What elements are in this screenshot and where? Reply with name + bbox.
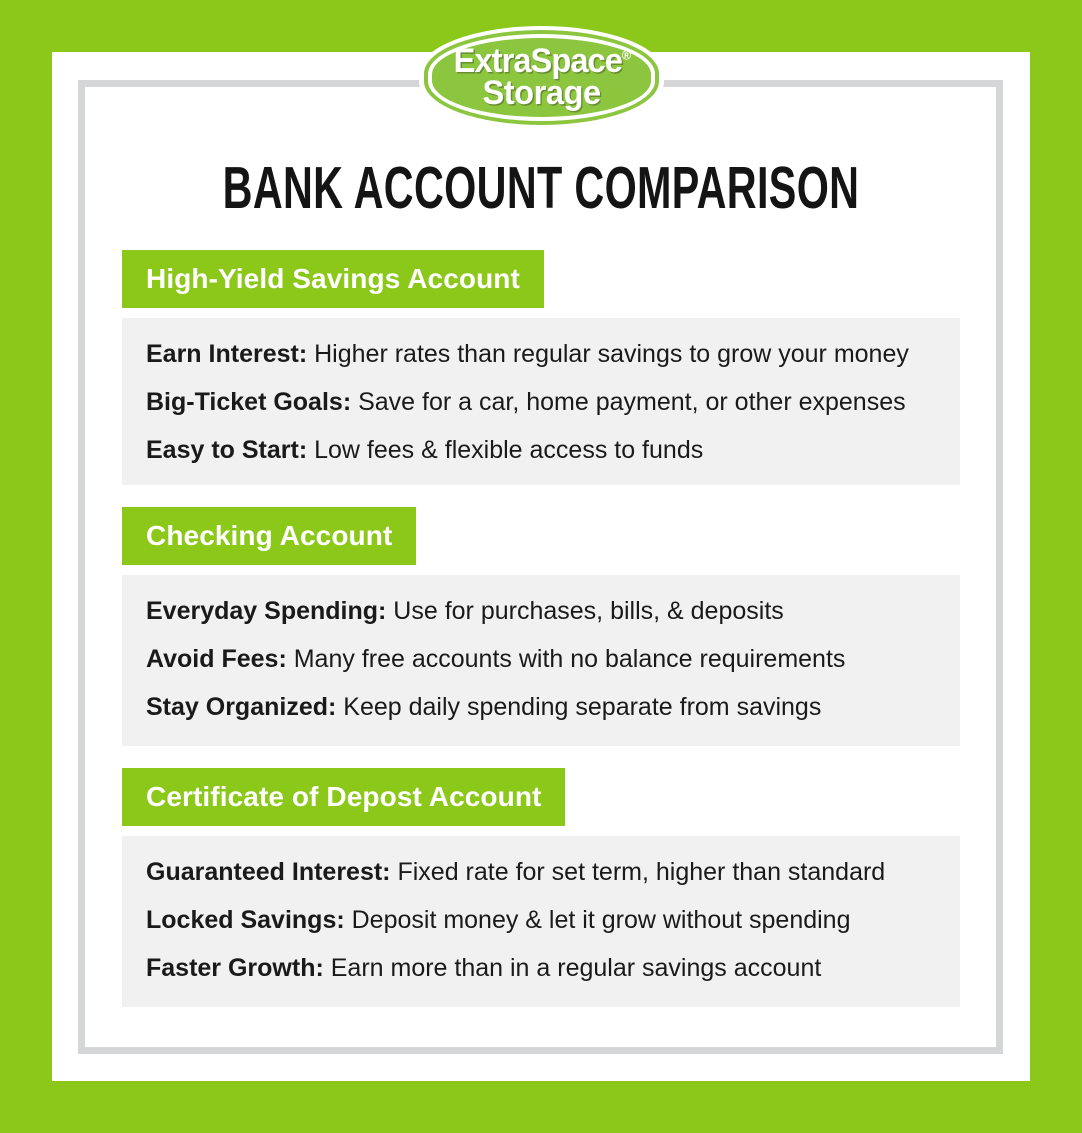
section-body-checking-account: Everyday Spending: Use for purchases, bi… [122, 575, 960, 746]
list-item-label: Everyday Spending: [146, 597, 386, 625]
sections-container: High-Yield Savings Account Earn Interest… [122, 250, 962, 1007]
section-header-high-yield-savings: High-Yield Savings Account [122, 250, 544, 308]
list-item-text: Keep daily spending separate from saving… [336, 693, 821, 721]
list-item-text: Higher rates than regular savings to gro… [307, 340, 909, 368]
page-title: BANK ACCOUNT COMPARISON [162, 158, 919, 218]
list-item: Locked Savings: Deposit money & let it g… [146, 908, 936, 933]
list-item-label: Easy to Start: [146, 436, 307, 464]
logo-wordmark-line-2: Storage [482, 76, 600, 111]
list-item-text: Earn more than in a regular savings acco… [324, 954, 822, 982]
list-item-text: Use for purchases, bills, & deposits [386, 597, 783, 625]
list-item-label: Avoid Fees: [146, 645, 287, 673]
list-item-label: Stay Organized: [146, 693, 336, 721]
list-item: Big-Ticket Goals: Save for a car, home p… [146, 390, 936, 415]
section-body-high-yield-savings: Earn Interest: Higher rates than regular… [122, 318, 960, 485]
logo-green-fill: ExtraSpace® Storage [432, 38, 651, 117]
list-item: Faster Growth: Earn more than in a regul… [146, 956, 936, 981]
list-item: Stay Organized: Keep daily spending sepa… [146, 695, 936, 720]
logo-wordmark-line-1: ExtraSpace® [453, 45, 629, 78]
bank-account-comparison-infographic: { "brand": { "logo_line1": "ExtraSpace",… [0, 0, 1082, 1133]
list-item-text: Deposit money & let it grow without spen… [345, 906, 851, 934]
list-item: Easy to Start: Low fees & flexible acces… [146, 438, 936, 463]
list-item: Everyday Spending: Use for purchases, bi… [146, 599, 936, 624]
list-item-text: Fixed rate for set term, higher than sta… [391, 858, 886, 886]
list-item: Earn Interest: Higher rates than regular… [146, 342, 936, 367]
list-item-label: Big-Ticket Goals: [146, 388, 351, 416]
section-high-yield-savings: High-Yield Savings Account Earn Interest… [122, 250, 962, 485]
list-item-label: Locked Savings: [146, 906, 345, 934]
list-item: Avoid Fees: Many free accounts with no b… [146, 647, 936, 672]
list-item: Guaranteed Interest: Fixed rate for set … [146, 860, 936, 885]
list-item-label: Earn Interest: [146, 340, 307, 368]
list-item-label: Faster Growth: [146, 954, 324, 982]
section-checking-account: Checking Account Everyday Spending: Use … [122, 507, 962, 746]
list-item-text: Save for a car, home payment, or other e… [351, 388, 905, 416]
list-item-text: Many free accounts with no balance requi… [287, 645, 846, 673]
list-item-label: Guaranteed Interest: [146, 858, 391, 886]
list-item-text: Low fees & flexible access to funds [307, 436, 703, 464]
registered-trademark-icon: ® [621, 47, 629, 62]
section-header-checking-account: Checking Account [122, 507, 416, 565]
section-body-certificate-of-deposit: Guaranteed Interest: Fixed rate for set … [122, 836, 960, 1007]
section-certificate-of-deposit: Certificate of Depost Account Guaranteed… [122, 768, 962, 1007]
extraspace-storage-logo: ExtraSpace® Storage [419, 26, 664, 129]
section-header-certificate-of-deposit: Certificate of Depost Account [122, 768, 565, 826]
